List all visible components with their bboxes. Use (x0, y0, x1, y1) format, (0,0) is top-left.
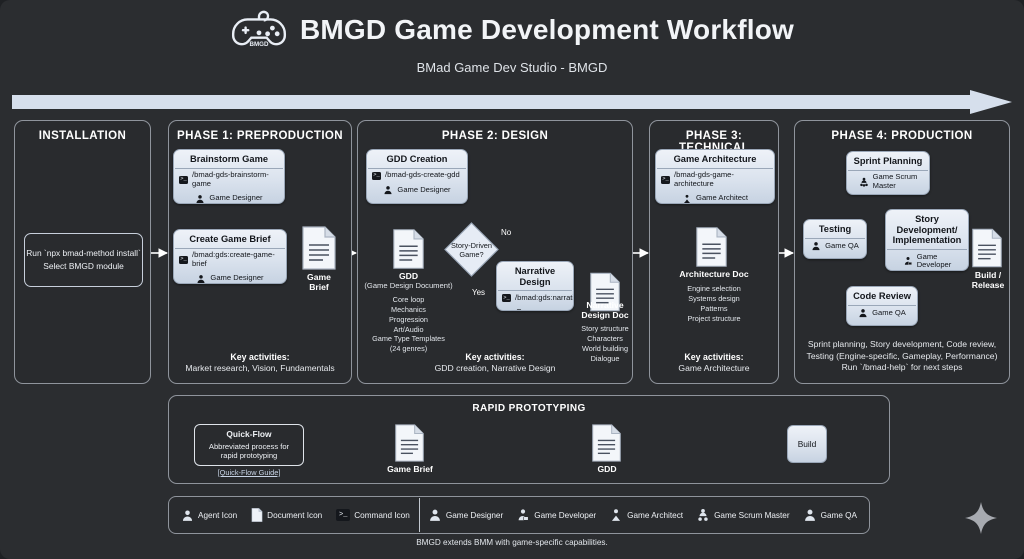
card-command: /bmad-gds-create-gdd (385, 171, 460, 180)
key-activities-title: Key activities: (684, 352, 743, 362)
quick-flow-guide-link[interactable]: [Quick-Flow Guide] (194, 468, 304, 477)
card-agent: Game QA (825, 242, 859, 251)
legend-label: Game Developer (534, 511, 596, 520)
installation-line-1: Run `npx bmad-method install` (26, 247, 141, 260)
game-developer-icon (903, 256, 913, 266)
card-command-row: >_ /bmad-gds-create-gdd (367, 169, 467, 183)
quick-flow-box: Quick-Flow Abbreviated process forrapid … (194, 424, 304, 466)
legend-label: Game QA (821, 511, 857, 520)
legend-item-game-architect: Game Architect (609, 508, 683, 522)
quick-flow-description: Abbreviated process forrapid prototyping (209, 442, 289, 462)
card-agent: Game QA (872, 309, 906, 318)
card-title: Game Architecture (656, 150, 774, 168)
command-icon: >_ (336, 509, 350, 521)
key-activities-title: Key activities: (465, 352, 524, 362)
card-agent: Game Designer (516, 308, 568, 311)
game-scrum-master-icon (859, 177, 869, 187)
phase-4-note-3: Run `/bmad-help` for next steps (842, 362, 963, 372)
rapid-step-label-build: Build (798, 439, 817, 449)
game-architect-icon (609, 508, 623, 522)
document-icon-gdd (392, 228, 425, 270)
card-agent: Game Designer (397, 186, 450, 195)
legend-label: Game Scrum Master (714, 511, 790, 520)
card-game-architecture[interactable]: Game Architecture >_ /bmad-gds-game-arch… (655, 149, 775, 204)
installation-line-2: Select BMGD module (43, 260, 124, 273)
legend-label: Command Icon (354, 511, 410, 520)
agent-icon (181, 509, 194, 522)
card-gdd-creation[interactable]: GDD Creation >_ /bmad-gds-create-gdd Gam… (366, 149, 468, 204)
card-command: /bmad:gds:create-game-brief (192, 251, 281, 268)
card-agent-row: Game Architect (656, 191, 774, 204)
legend-symbols: Agent Icon Document Icon >_ Command Icon (181, 508, 410, 522)
branch-label-no: No (501, 228, 511, 237)
card-command-row: >_ /bmad:gds:narrative (497, 291, 573, 305)
panel-title-rapid-prototyping: RAPID PROTOTYPING (169, 403, 889, 414)
legend-item-game-qa: Game QA (803, 508, 857, 522)
sparkle-icon (963, 500, 999, 536)
decision-label: Story-DrivenGame? (444, 240, 499, 259)
card-agent-row: Game Designer (174, 191, 284, 204)
panel-installation: INSTALLATION Run `npx bmad-method instal… (14, 120, 151, 384)
document-sublabel-gdd: (Game Design Document) (360, 281, 457, 291)
card-title: StoryDevelopment/Implementation (886, 210, 968, 249)
document-label-architecture: Architecture Doc (654, 269, 774, 279)
game-scrum-master-icon (696, 508, 710, 522)
legend-item-game-developer: Game Developer (516, 508, 596, 522)
key-activities-text: Market research, Vision, Fundamentals (185, 363, 334, 373)
game-qa-icon (811, 241, 821, 251)
card-agent: Game Designer (210, 274, 263, 283)
card-story-development[interactable]: StoryDevelopment/Implementation GameDeve… (885, 209, 969, 271)
card-sprint-planning[interactable]: Sprint Planning Game ScrumMaster (846, 151, 930, 195)
title-row: BMGD BMGD Game Development Workflow (0, 8, 1024, 52)
command-icon: >_ (372, 172, 381, 180)
command-icon: >_ (179, 176, 188, 184)
card-testing[interactable]: Testing Game QA (803, 219, 867, 259)
workflow-diagram-root: BMGD BMGD Game Development Workflow BMad… (0, 0, 1024, 559)
installation-command-box: Run `npx bmad-method install` Select BMG… (24, 233, 143, 287)
legend-roles: Game Designer Game Developer Game Archit… (428, 508, 857, 522)
document-label-build-release: Build /Release (960, 270, 1016, 291)
card-title: GDD Creation (367, 150, 467, 168)
card-agent-row: Game QA (804, 239, 866, 254)
card-brainstorm-game[interactable]: Brainstorm Game >_ /bmad-gds-brainstorm-… (173, 149, 285, 204)
legend-item-agent-icon: Agent Icon (181, 509, 237, 522)
card-title: Testing (804, 220, 866, 238)
agent-icon (383, 185, 393, 195)
card-create-game-brief[interactable]: Create Game Brief >_ /bmad:gds:create-ga… (173, 229, 287, 284)
quick-flow-title: Quick-Flow (226, 429, 271, 440)
card-command: /bmad:gds:narrative (515, 294, 574, 303)
panel-title-installation: INSTALLATION (15, 130, 150, 142)
card-agent-row: GameDeveloper (886, 250, 968, 271)
legend-item-game-designer: Game Designer (428, 508, 503, 522)
panel-title-phase-1: PHASE 1: PREPRODUCTION (169, 130, 351, 142)
legend-label: Game Designer (446, 511, 503, 520)
key-activities-title: Key activities: (230, 352, 289, 362)
card-title: Brainstorm Game (174, 150, 284, 168)
document-label-gdd: GDD (366, 271, 451, 281)
panel-title-phase-2: PHASE 2: DESIGN (358, 130, 632, 142)
document-icon-rapid-gdd (591, 424, 622, 462)
page-title: BMGD Game Development Workflow (300, 14, 794, 46)
card-command-row: >_ /bmad-gds-game-architecture (656, 169, 774, 191)
command-icon: >_ (661, 176, 670, 184)
document-label-narrative: NarrativeDesign Doc (572, 300, 638, 321)
key-activities-text: Game Architecture (678, 363, 749, 373)
document-icon-build-release (971, 228, 1003, 268)
card-narrative-design[interactable]: Narrative Design >_ /bmad:gds:narrative … (496, 261, 574, 311)
card-title: Sprint Planning (847, 152, 929, 170)
card-agent: Game Architect (696, 194, 748, 203)
legend-label: Game Architect (627, 511, 683, 520)
card-agent-row: Game QA (847, 306, 917, 321)
card-agent: Game Designer (209, 194, 262, 203)
card-command-row: >_ /bmad-gds-brainstorm-game (174, 169, 284, 191)
gdd-details: Core loopMechanicsProgressionArt/AudioGa… (358, 295, 459, 354)
game-qa-icon (803, 508, 817, 522)
page-subtitle: BMad Game Dev Studio - BMGD (0, 60, 1024, 75)
game-qa-icon (858, 308, 868, 318)
document-label-game-brief: GameBrief (297, 272, 341, 293)
card-command: /bmad-gds-brainstorm-game (192, 171, 279, 188)
legend-bar: Agent Icon Document Icon >_ Command Icon (168, 496, 870, 534)
header: BMGD BMGD Game Development Workflow BMad… (0, 8, 1024, 75)
document-icon-rapid-game-brief (394, 424, 425, 462)
command-icon: >_ (502, 294, 511, 302)
branch-label-yes: Yes (472, 288, 485, 297)
card-title: Narrative Design (497, 262, 573, 290)
panel-title-phase-4: PHASE 4: PRODUCTION (795, 130, 1009, 142)
legend-label: Document Icon (267, 511, 322, 520)
rapid-step-build-box: Build (787, 425, 827, 463)
card-title: Code Review (847, 287, 917, 305)
key-activities-phase-3: Key activities: Game Architecture (650, 352, 778, 375)
command-icon: >_ (179, 256, 188, 264)
key-activities-phase-1: Key activities: Market research, Vision,… (169, 352, 351, 375)
agent-icon (195, 194, 205, 204)
game-architect-icon (682, 194, 692, 204)
rapid-step-label-gdd: GDD (580, 464, 634, 474)
phase-4-notes: Sprint planning, Story development, Code… (795, 339, 1009, 374)
document-icon-game-brief (301, 226, 337, 270)
agent-icon (196, 274, 206, 284)
game-developer-icon (516, 508, 530, 522)
legend-item-game-scrum-master: Game Scrum Master (696, 508, 790, 522)
card-agent-row: Game Designer (497, 305, 573, 311)
card-agent-row: Game ScrumMaster (847, 171, 929, 193)
phase-4-note-2: Testing (Engine-specific, Gameplay, Perf… (807, 351, 998, 361)
rapid-step-label-game-brief: Game Brief (380, 464, 440, 474)
legend-item-command-icon: >_ Command Icon (336, 509, 410, 521)
card-agent-row: Game Designer (367, 182, 467, 197)
card-code-review[interactable]: Code Review Game QA (846, 286, 918, 326)
key-activities-text: GDD creation, Narrative Design (435, 363, 556, 373)
workflow-progress-arrow (12, 90, 1012, 114)
footnote: BMGD extends BMM with game-specific capa… (0, 538, 1024, 547)
game-designer-icon (428, 508, 442, 522)
decision-story-driven: Story-DrivenGame? (444, 222, 499, 277)
narrative-details: Story structureCharactersWorld buildingD… (570, 324, 640, 363)
card-command: /bmad-gds-game-architecture (674, 171, 769, 188)
legend-item-document-icon: Document Icon (251, 508, 322, 522)
card-agent: GameDeveloper (917, 253, 952, 270)
card-agent-row: Game Designer (174, 271, 286, 284)
card-agent: Game ScrumMaster (873, 173, 918, 190)
gamepad-logo-icon: BMGD (230, 8, 288, 52)
document-icon-architecture (695, 226, 728, 268)
legend-label: Agent Icon (198, 511, 237, 520)
architecture-details: Engine selectionSystems designPatternsPr… (654, 284, 774, 323)
card-title: Create Game Brief (174, 230, 286, 248)
logo-label: BMGD (250, 41, 269, 48)
phase-4-note-1: Sprint planning, Story development, Code… (808, 339, 996, 349)
card-command-row: >_ /bmad:gds:create-game-brief (174, 249, 286, 271)
document-icon (251, 508, 263, 522)
